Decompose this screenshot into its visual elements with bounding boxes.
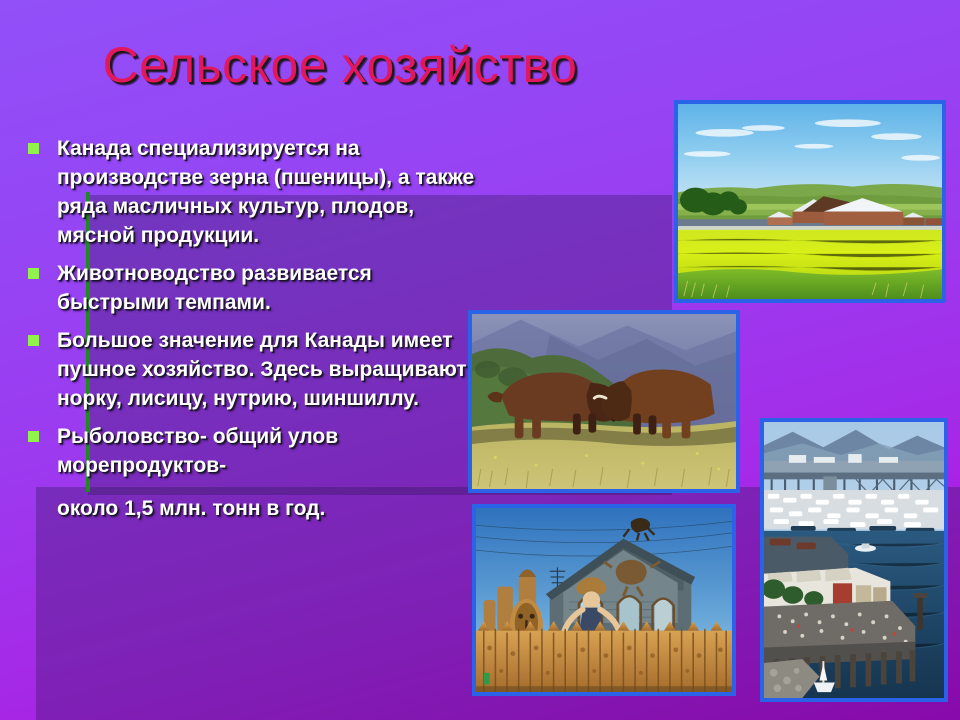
list-item: Канада специализируется на производстве … bbox=[28, 134, 476, 250]
bullet-text: Рыболовство- общий улов морепродуктов- bbox=[57, 422, 476, 480]
bullet-text: Канада специализируется на производстве … bbox=[57, 134, 476, 250]
presentation-slide: Сельское хозяйство Канада специализирует… bbox=[0, 0, 960, 720]
square-bullet-icon bbox=[28, 268, 39, 279]
square-bullet-icon bbox=[28, 143, 39, 154]
list-item: Большое значение для Канады имеет пушное… bbox=[28, 326, 476, 413]
square-bullet-icon bbox=[28, 431, 39, 442]
bullet-text: Животноводство развивается быстрыми темп… bbox=[57, 259, 476, 317]
list-item: Рыболовство- общий улов морепродуктов- bbox=[28, 422, 476, 480]
bullet-list: Канада специализируется на производстве … bbox=[28, 134, 476, 523]
bullet-text: Большое значение для Канады имеет пушное… bbox=[57, 326, 476, 413]
square-bullet-icon bbox=[28, 335, 39, 346]
trailing-text-line: около 1,5 млн. тонн в год. bbox=[57, 494, 476, 523]
page-title: Сельское хозяйство bbox=[0, 36, 680, 94]
photo-bison-fighting bbox=[468, 310, 740, 493]
photo-harbor-marina bbox=[760, 418, 948, 702]
list-item: Животноводство развивается быстрыми темп… bbox=[28, 259, 476, 317]
photo-carved-wooden-house bbox=[472, 504, 736, 696]
photo-farm-canola-field bbox=[674, 100, 946, 303]
